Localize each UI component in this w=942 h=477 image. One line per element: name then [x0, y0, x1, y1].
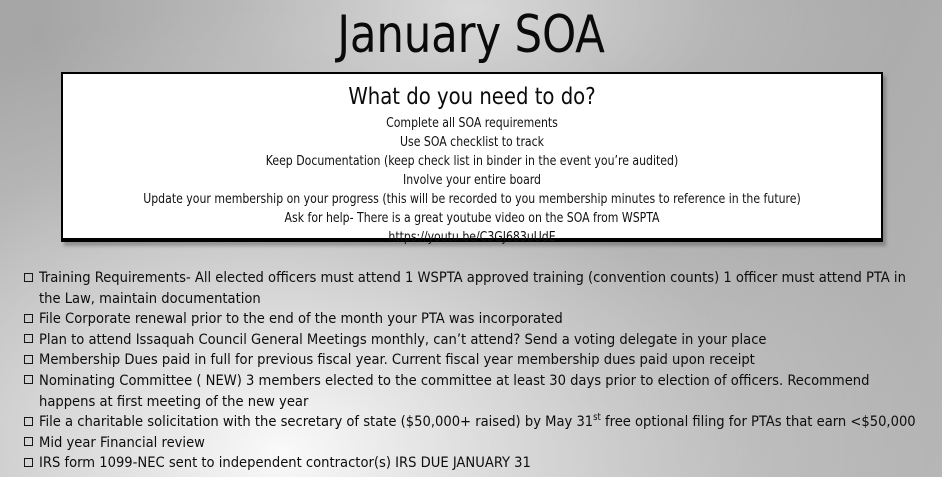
list-item[interactable]: Plan to attend Issaquah Council General … [24, 330, 922, 351]
callout-link[interactable]: https://youtu.be/C3GJ683uUdE [113, 228, 831, 247]
callout-line: Update your membership on your progress … [113, 190, 831, 209]
list-item[interactable]: Nominating Committee ( NEW) 3 members el… [24, 371, 922, 412]
list-item[interactable]: Membership Dues paid in full for previou… [24, 350, 922, 371]
check-box-icon[interactable] [24, 355, 33, 364]
list-item[interactable]: IRS form 1099-NEC sent to independent co… [24, 453, 922, 474]
check-box-icon[interactable] [24, 314, 33, 323]
check-box-icon[interactable] [24, 273, 33, 282]
slide-canvas: January SOA What do you need to do? Comp… [0, 0, 942, 477]
list-item-label: Plan to attend Issaquah Council General … [39, 331, 767, 348]
check-box-icon[interactable] [24, 334, 33, 343]
callout-line: Complete all SOA requirements [113, 114, 831, 133]
list-item-label: Membership Dues paid in full for previou… [39, 351, 755, 368]
callout-box: What do you need to do? Complete all SOA… [61, 72, 883, 242]
list-item[interactable]: File a charitable solicitation with the … [24, 412, 922, 433]
callout-line: Use SOA checklist to track [113, 133, 831, 152]
check-box-icon[interactable] [24, 417, 33, 426]
callout-line: Keep Documentation (keep check list in b… [113, 152, 831, 171]
page-title: January SOA [33, 4, 909, 66]
list-item[interactable]: Mid year Financial review [24, 433, 922, 454]
list-item-label: File a charitable solicitation with the … [39, 413, 916, 430]
list-item-label: Mid year Financial review [39, 434, 205, 451]
check-box-icon[interactable] [24, 458, 33, 467]
check-box-icon[interactable] [24, 375, 33, 384]
callout-line: Ask for help- There is a great youtube v… [113, 209, 831, 228]
list-item-label: Training Requirements- All elected offic… [39, 269, 906, 307]
list-item-label: File Corporate renewal prior to the end … [39, 310, 563, 327]
title-area: January SOA [0, 4, 942, 66]
check-box-icon[interactable] [24, 437, 33, 446]
list-item[interactable]: File Corporate renewal prior to the end … [24, 309, 922, 330]
checklist: Training Requirements- All elected offic… [24, 268, 922, 474]
callout-heading: What do you need to do? [93, 82, 851, 112]
list-item[interactable]: Training Requirements- All elected offic… [24, 268, 922, 309]
list-item-label: Nominating Committee ( NEW) 3 members el… [39, 372, 869, 410]
callout-line: Involve your entire board [113, 171, 831, 190]
list-item-label: IRS form 1099-NEC sent to independent co… [39, 454, 531, 471]
